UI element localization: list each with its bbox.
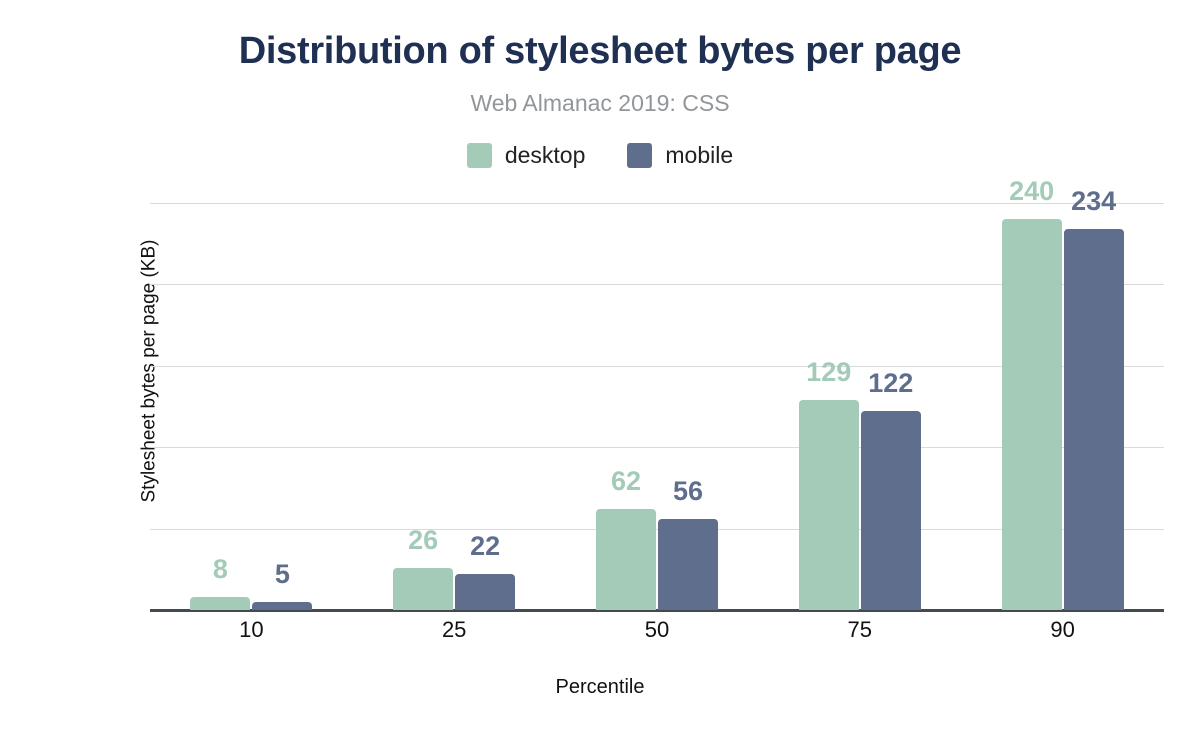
legend-label-desktop: desktop <box>505 142 586 169</box>
bar-value-label-mobile-p90: 234 <box>1049 186 1139 217</box>
bar-groups: 85102622256256501291227524023490 <box>150 203 1164 610</box>
chart-legend: desktop mobile <box>0 142 1200 169</box>
bar-chart: Distribution of stylesheet bytes per pag… <box>0 0 1200 742</box>
x-axis-tick-label: 10 <box>186 617 316 643</box>
x-axis-tick-label: 50 <box>592 617 722 643</box>
bar-mobile-p10[interactable] <box>252 602 312 610</box>
bar-value-label-mobile-p25: 22 <box>440 531 530 562</box>
legend-swatch-desktop <box>467 143 492 168</box>
bar-desktop-p50[interactable] <box>596 509 656 610</box>
bar-group: 24023490 <box>998 203 1128 610</box>
bar-desktop-p75[interactable] <box>799 400 859 610</box>
legend-item-mobile[interactable]: mobile <box>627 142 733 169</box>
legend-item-desktop[interactable]: desktop <box>467 142 586 169</box>
bar-mobile-p75[interactable] <box>861 411 921 610</box>
bar-group: 8510 <box>186 203 316 610</box>
legend-swatch-mobile <box>627 143 652 168</box>
bar-group: 12912275 <box>795 203 925 610</box>
bar-desktop-p25[interactable] <box>393 568 453 610</box>
bar-value-label-mobile-p10: 5 <box>237 559 327 590</box>
bar-value-label-mobile-p75: 122 <box>846 368 936 399</box>
bar-value-label-mobile-p50: 56 <box>643 476 733 507</box>
bar-mobile-p25[interactable] <box>455 574 515 610</box>
bar-mobile-p50[interactable] <box>658 519 718 610</box>
bar-group: 625650 <box>592 203 722 610</box>
bar-group: 262225 <box>389 203 519 610</box>
bar-desktop-p10[interactable] <box>190 597 250 610</box>
x-axis-tick-label: 90 <box>998 617 1128 643</box>
chart-subtitle: Web Almanac 2019: CSS <box>0 90 1200 117</box>
x-axis-tick-label: 75 <box>795 617 925 643</box>
x-axis-tick-label: 25 <box>389 617 519 643</box>
x-axis-title: Percentile <box>0 676 1200 699</box>
bar-mobile-p90[interactable] <box>1064 229 1124 610</box>
plot-area: 050100150200250 851026222562565012912275… <box>150 203 1164 610</box>
chart-title: Distribution of stylesheet bytes per pag… <box>0 30 1200 73</box>
legend-label-mobile: mobile <box>665 142 733 169</box>
bar-desktop-p90[interactable] <box>1002 219 1062 610</box>
